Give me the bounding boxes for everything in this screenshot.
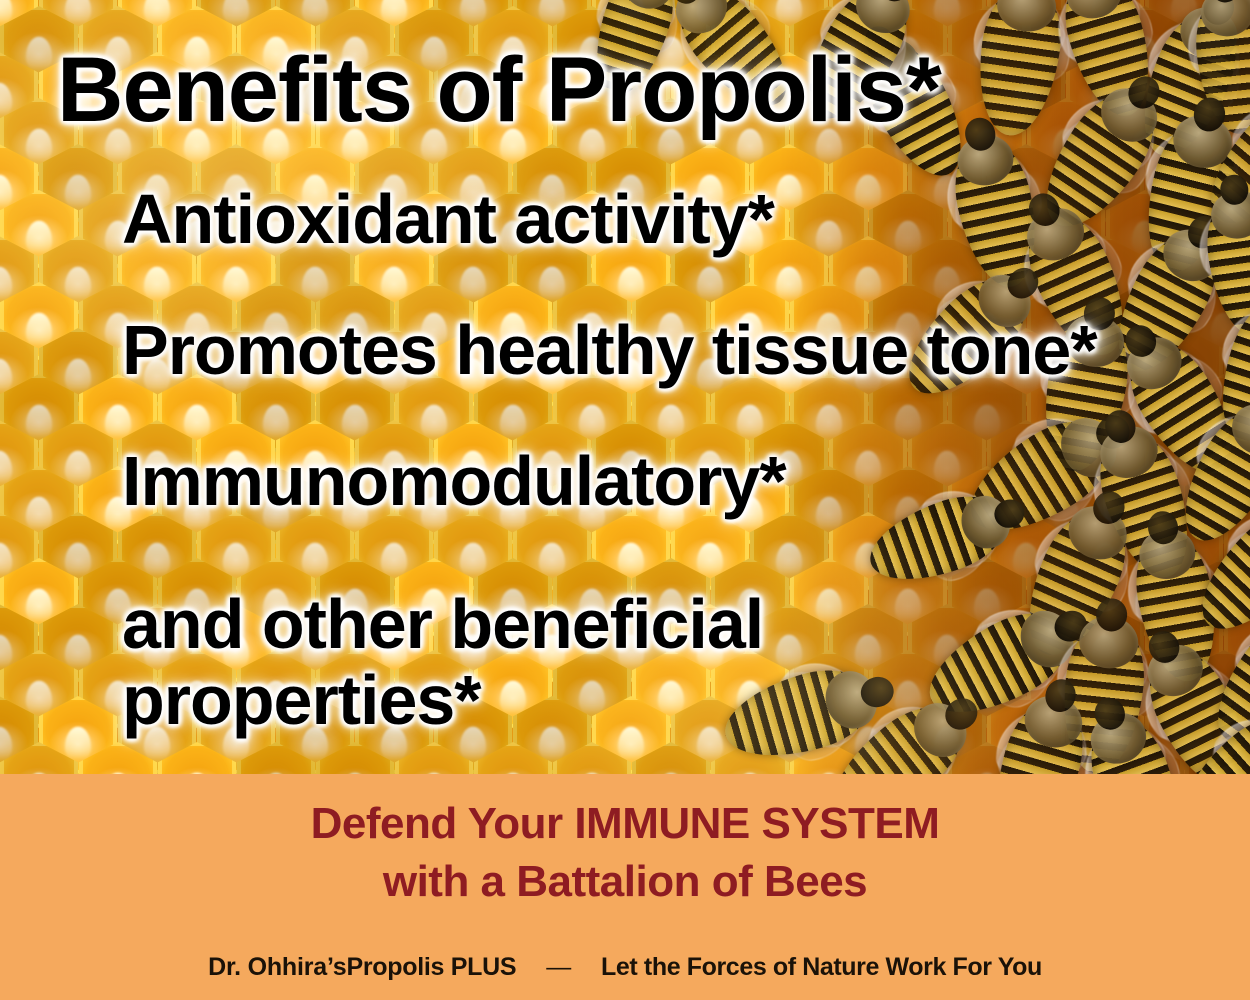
propolis-benefits-advertisement: Benefits of Propolis* Antioxidant activi… — [0, 0, 1250, 1000]
brand-name: Propolis PLUS — [347, 953, 517, 982]
brand-prefix: Dr. Ohhira’s — [208, 953, 346, 982]
footer-tagline: Dr. Ohhira’s Propolis PLUS — Let the For… — [0, 953, 1250, 982]
tagline-separator: — — [516, 953, 601, 982]
footer-headline-prefix: Defend Your — [311, 799, 575, 848]
footer-band: Defend Your IMMUNE SYSTEM with a Battali… — [0, 774, 1250, 1000]
footer-headline-line-2: with a Battalion of Bees — [0, 856, 1250, 909]
footer-headline-line-1: Defend Your IMMUNE SYSTEM — [0, 774, 1250, 850]
tagline-slogan: Let the Forces of Nature Work For You — [601, 953, 1042, 982]
footer-headline-emphasis: IMMUNE SYSTEM — [574, 799, 939, 848]
honeycomb-background-photo — [0, 0, 1250, 774]
